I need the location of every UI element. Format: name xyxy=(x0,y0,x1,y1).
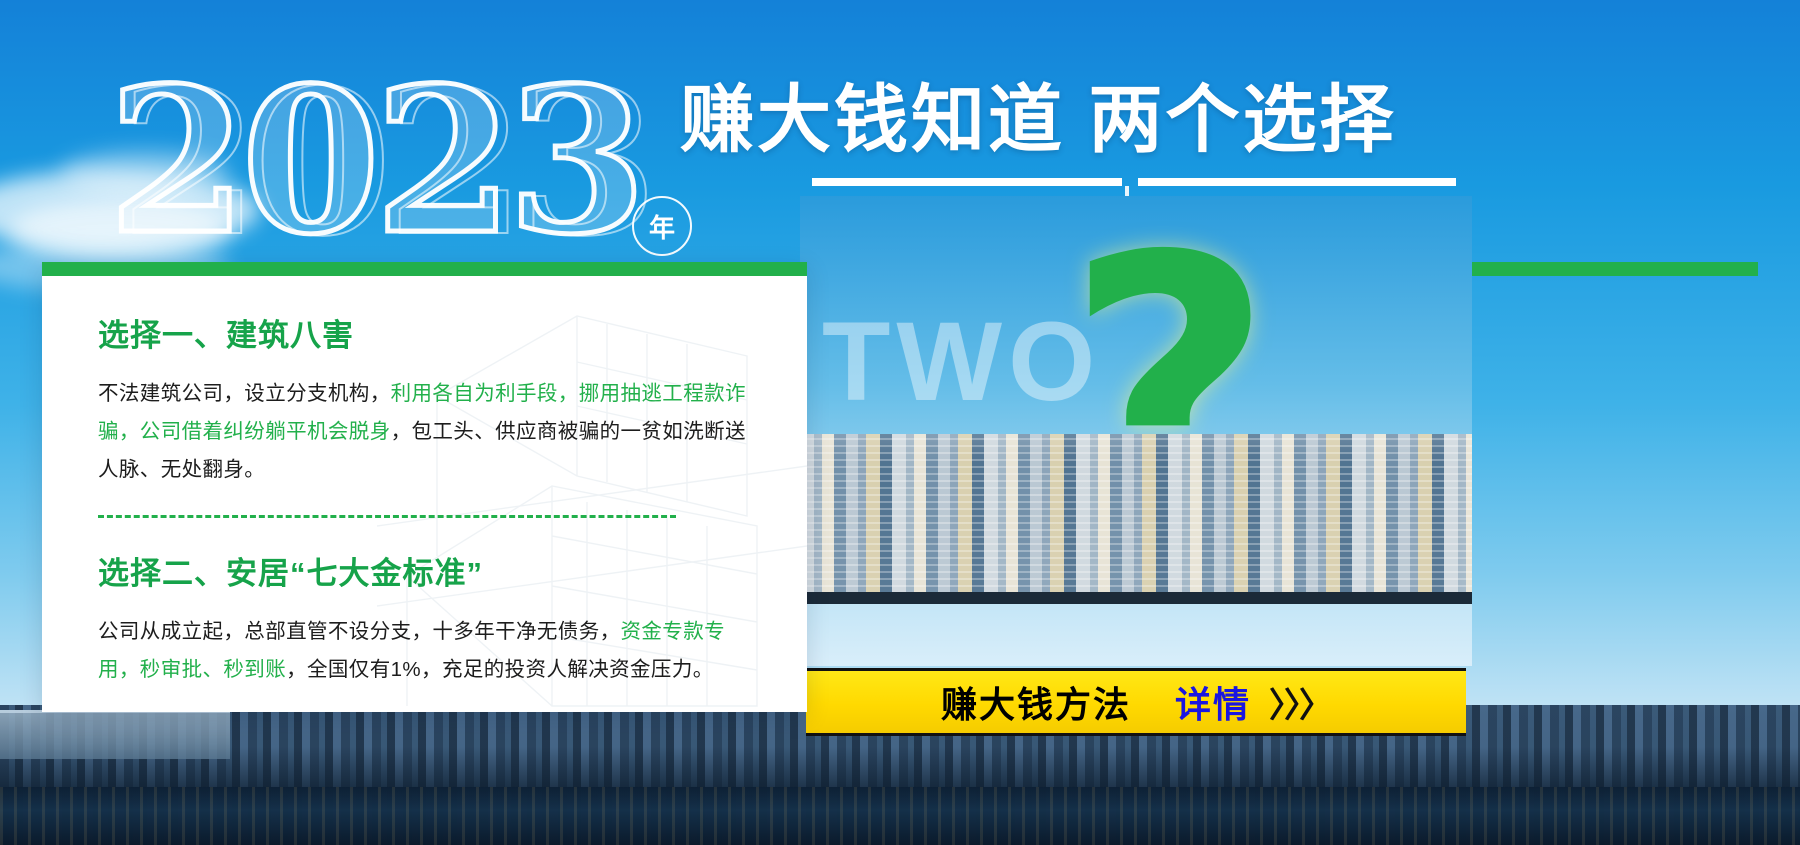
section-1-text: 不法建筑公司，设立分支机构，利用各自为利手段，挪用抽逃工程款诈骗，公司借着纠纷躺… xyxy=(98,375,763,489)
section-2-text: 公司从成立起，总部直管不设分支，十多年干净无债务，资金专款专用，秒审批、秒到账，… xyxy=(98,613,763,689)
content-card: 选择一、建筑八害 不法建筑公司，设立分支机构，利用各自为利手段，挪用抽逃工程款诈… xyxy=(42,262,807,712)
section-2-title: 选择二、安居“七大金标准” xyxy=(98,548,763,593)
card-body: 选择一、建筑八害 不法建筑公司，设立分支机构，利用各自为利手段，挪用抽逃工程款诈… xyxy=(42,262,807,689)
poster-canvas: 2023 2023 年 赚大钱知道 两个选择 TWO CHOICES ? 赚大钱… xyxy=(0,0,1800,845)
water-reflection xyxy=(0,787,1800,845)
media-ground-band xyxy=(800,592,1472,604)
section-1-run-1: 不法建筑公司，设立分支机构， xyxy=(98,382,391,405)
right-media-panel: TWO CHOICES ? xyxy=(800,196,1472,666)
bridge-shape xyxy=(0,710,230,759)
section-2-run-3: ，全国仅有1%，充足的投资人解决资金压力。 xyxy=(286,658,714,681)
title-rule-left xyxy=(812,178,1122,186)
section-2-run-1: 公司从成立起，总部直管不设分支，十多年干净无债务， xyxy=(98,620,621,643)
right-green-accent-bar xyxy=(1458,262,1758,276)
cta-detail-link[interactable]: 详情 xyxy=(1175,676,1251,728)
year-suffix-badge: 年 xyxy=(632,196,692,256)
media-cityscape-photo xyxy=(800,434,1472,594)
cta-bar[interactable]: 赚大钱方法 详情 〉〉〉 xyxy=(806,668,1466,736)
section-divider xyxy=(98,515,676,518)
title-rule-right xyxy=(1138,178,1456,186)
year-2023-outline: 2023 xyxy=(108,62,641,262)
section-1-title: 选择一、建筑八害 xyxy=(98,310,763,355)
chevron-right-icon: 〉〉〉 xyxy=(1269,678,1331,727)
page-title: 赚大钱知道 两个选择 xyxy=(680,78,1397,162)
cta-main-label: 赚大钱方法 xyxy=(941,676,1131,728)
